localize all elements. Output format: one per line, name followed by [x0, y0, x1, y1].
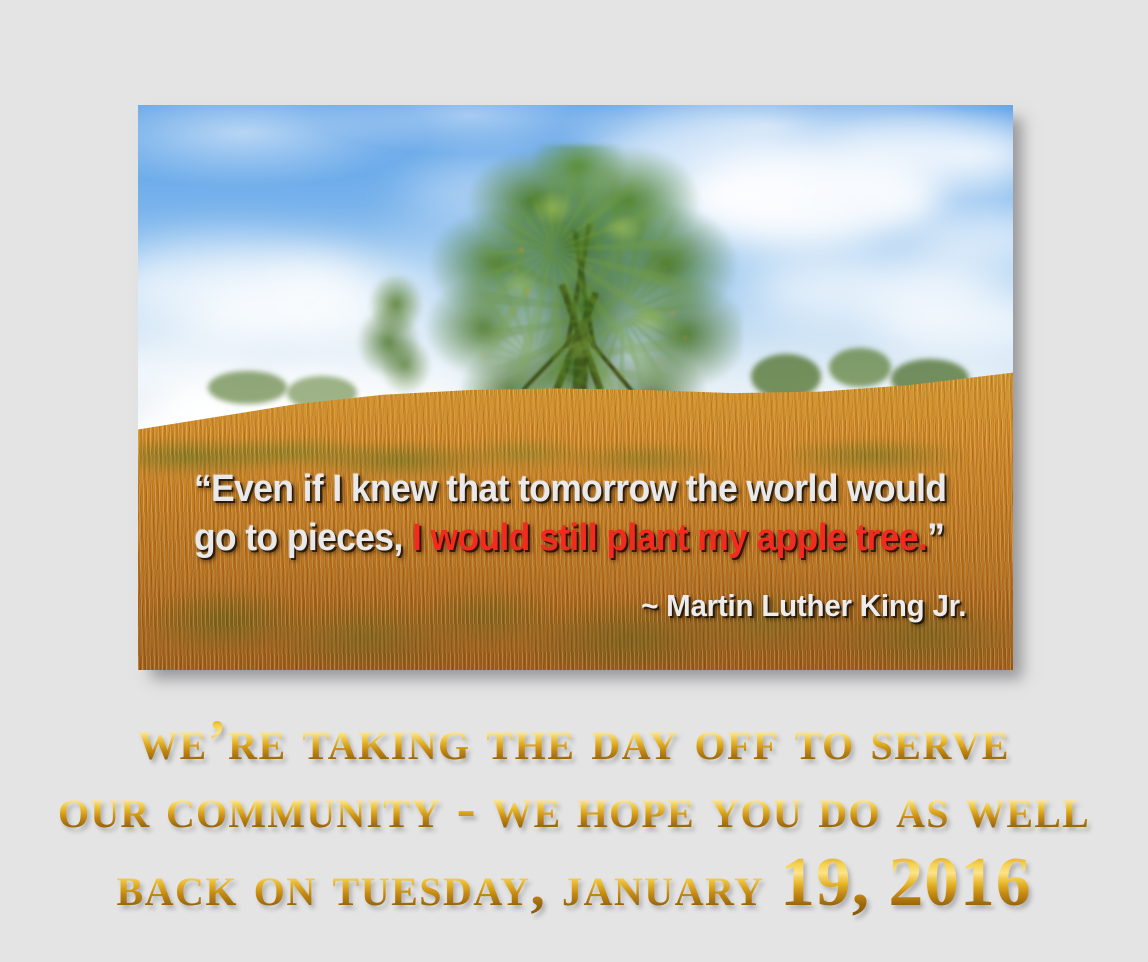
- message-line-3-prefix: Back on Tuesday, January: [116, 855, 780, 918]
- photo-card: “Even if I knew that tomorrow the world …: [138, 105, 1013, 670]
- quote-overlay: “Even if I knew that tomorrow the world …: [138, 465, 1013, 624]
- poster-page: “Even if I knew that tomorrow the world …: [0, 0, 1148, 962]
- quote-highlight-text: I would still plant my apple tree.: [412, 517, 927, 559]
- horizon-bush: [208, 371, 287, 405]
- horizon-bush: [829, 348, 890, 388]
- closure-message: We’re taking the day off to serve Our co…: [0, 712, 1148, 928]
- quote-attribution: ~ Martin Luther King Jr.: [234, 588, 991, 624]
- quote-line-2-prefix: go to pieces,: [194, 517, 412, 559]
- message-line-2: Our community - we hope you do as well: [0, 780, 1148, 839]
- photo-scene: “Even if I knew that tomorrow the world …: [138, 105, 1013, 670]
- quote-line-2-suffix: ”: [927, 517, 944, 559]
- message-line-1: We’re taking the day off to serve: [0, 712, 1148, 771]
- quote-line-1: “Even if I knew that tomorrow the world …: [194, 465, 935, 514]
- message-date: 19, 2016: [780, 844, 1031, 921]
- message-line-3: Back on Tuesday, January 19, 2016: [0, 847, 1148, 919]
- quote-line-2: go to pieces, I would still plant my app…: [194, 514, 935, 563]
